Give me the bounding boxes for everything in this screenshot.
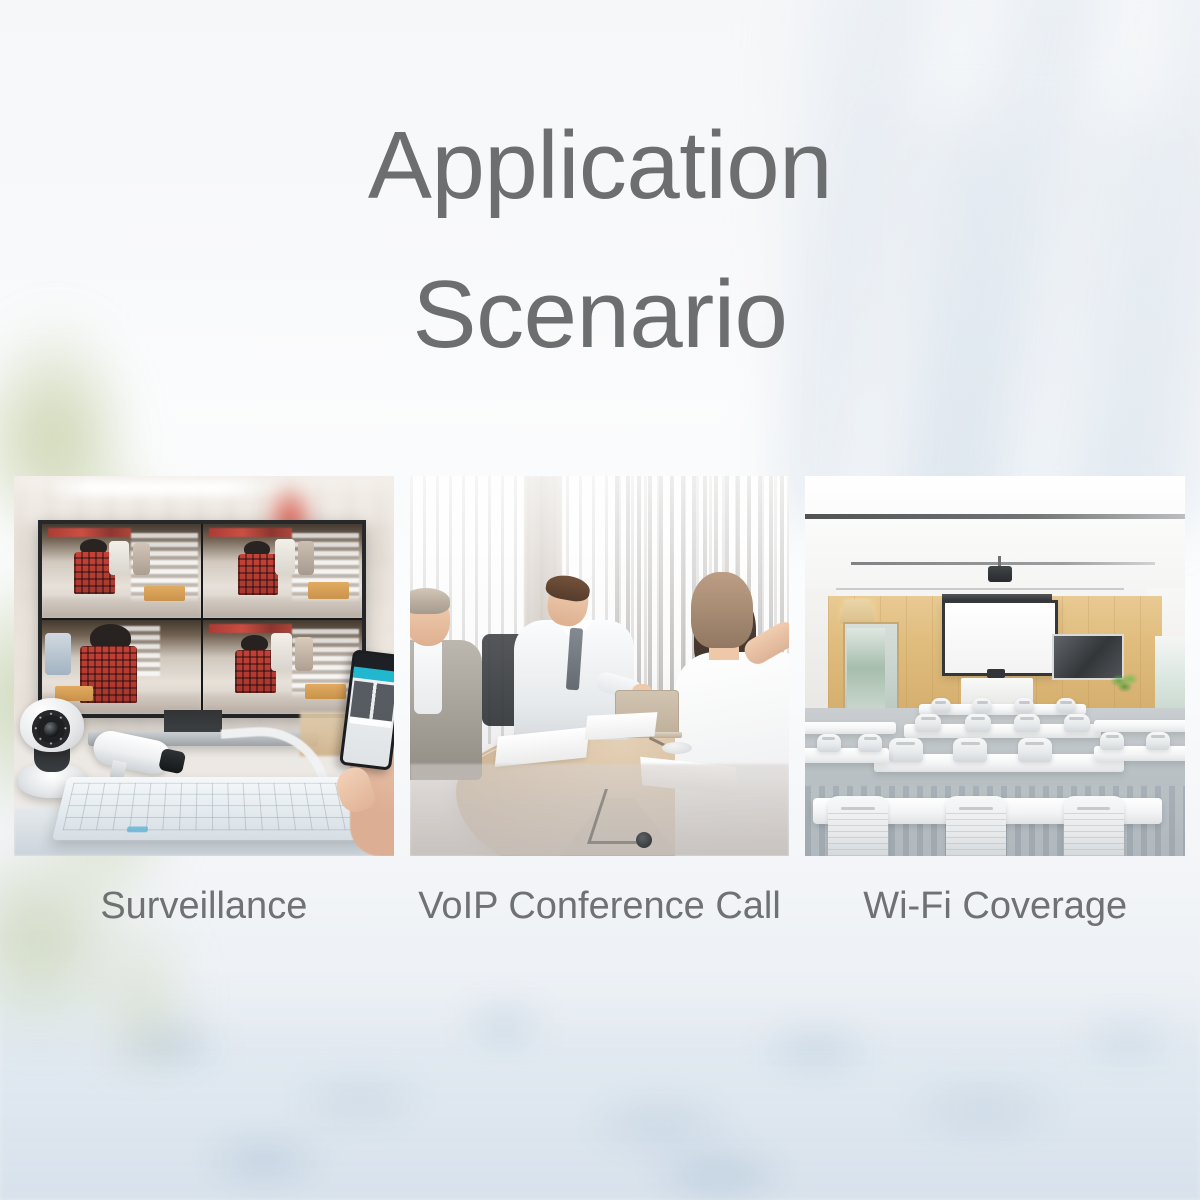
cctv-quadrant-2 xyxy=(203,524,362,618)
cctv-store-banner xyxy=(209,624,292,633)
classroom-chair xyxy=(889,738,923,762)
cctv-store-banner xyxy=(209,528,292,537)
ceiling-linear-light xyxy=(805,514,1185,519)
classroom-chair xyxy=(1056,698,1076,712)
cctv-person-plaid-shirt xyxy=(238,554,278,595)
classroom-chair xyxy=(1018,738,1052,762)
documents-on-table xyxy=(584,712,657,740)
classroom-chair xyxy=(817,734,841,752)
cctv-quad-view xyxy=(42,524,362,714)
classroom-chair-back-slats xyxy=(1064,808,1124,856)
classroom-chair xyxy=(953,738,987,762)
classroom-chair-back-slats xyxy=(946,808,1006,856)
projection-screen xyxy=(942,600,1058,676)
classroom-chair xyxy=(915,714,941,732)
caption-surveillance: Surveillance xyxy=(14,884,394,930)
caption-wifi-coverage: Wi-Fi Coverage xyxy=(805,884,1185,930)
cctv-crate xyxy=(144,586,185,601)
colleague-left-shirt xyxy=(414,642,442,714)
classroom-chair xyxy=(1100,732,1124,750)
classroom-chair xyxy=(1014,714,1040,732)
classroom-chair xyxy=(972,698,992,712)
classroom-chair-back-slats xyxy=(828,808,888,856)
classroom-chair xyxy=(1014,698,1034,712)
cctv-person-white xyxy=(109,541,130,575)
cctv-store-banner xyxy=(48,528,131,537)
cctv-monitor xyxy=(38,520,366,718)
scenario-image-row xyxy=(14,476,1185,856)
cctv-person-plaid-shirt xyxy=(235,650,276,693)
classroom-chair xyxy=(1064,714,1090,732)
dome-camera-lens xyxy=(44,722,59,737)
classroom-chair xyxy=(931,698,951,712)
smartphone-camera-tiles xyxy=(344,681,393,765)
caption-voip-conference: VoIP Conference Call xyxy=(410,884,790,930)
colleague-left-hair xyxy=(410,588,450,614)
colleague-foreground-hair xyxy=(691,572,753,648)
hand-holding-phone xyxy=(332,652,394,856)
ceiling-projector xyxy=(988,566,1012,582)
colleague-left xyxy=(410,594,484,784)
page-title-line-2: Scenario xyxy=(0,241,1200,390)
store-ceiling-light xyxy=(44,480,279,496)
cctv-person-white xyxy=(271,633,292,671)
cctv-person-shopper xyxy=(133,543,150,575)
ceiling-linear-light xyxy=(851,562,1155,565)
scenario-photo-voip-conference xyxy=(410,476,790,856)
page-title-line-1: Application xyxy=(0,92,1200,241)
bullet-camera-lens xyxy=(158,748,186,775)
scenario-caption-row: Surveillance VoIP Conference Call Wi-Fi … xyxy=(14,884,1185,930)
page-title: Application Scenario xyxy=(0,92,1200,390)
smartphone xyxy=(339,649,394,770)
cctv-person-shopper xyxy=(298,541,314,575)
classroom-desk-left xyxy=(805,722,896,734)
classroom-chair xyxy=(1146,732,1170,750)
wall-lamp xyxy=(840,600,876,624)
cctv-counter xyxy=(203,597,362,618)
cctv-person-white xyxy=(275,539,296,575)
cctv-quadrant-1 xyxy=(42,524,201,618)
cctv-person-staff xyxy=(45,633,70,674)
classroom-door-glass xyxy=(847,628,885,708)
classroom-chair xyxy=(965,714,991,732)
scenario-photo-surveillance xyxy=(14,476,394,856)
cctv-crate xyxy=(308,582,349,599)
classroom-desk-right xyxy=(1094,720,1185,732)
desktop-keyboard xyxy=(52,777,368,840)
chair-caster xyxy=(636,832,652,848)
potted-plant xyxy=(1109,670,1143,694)
conference-speakerphone xyxy=(662,742,692,754)
application-scenario-banner: Application Scenario xyxy=(0,0,1200,1200)
scenario-photo-wifi-coverage xyxy=(805,476,1185,856)
classroom-chair xyxy=(858,734,882,752)
cctv-person-shopper xyxy=(295,637,312,671)
ceiling-trim xyxy=(836,588,1125,590)
